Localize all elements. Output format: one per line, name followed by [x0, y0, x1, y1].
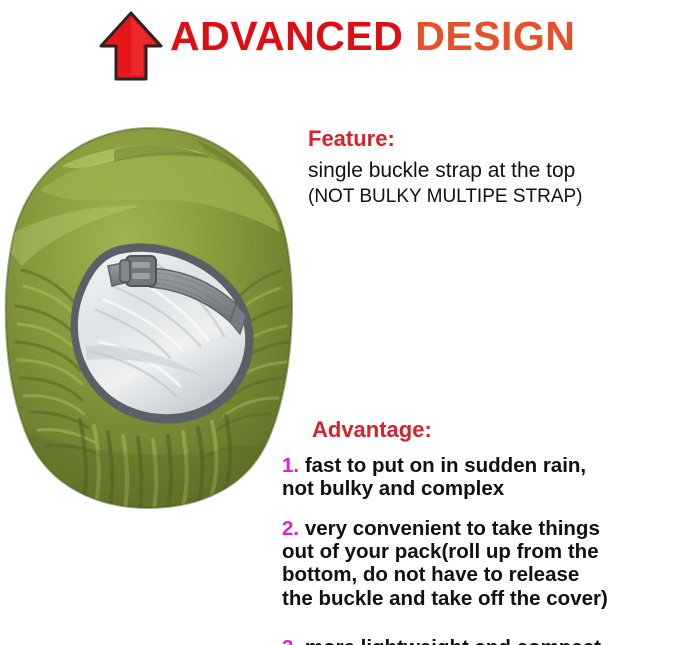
advantage-item-1: 1. fast to put on in sudden rain, not bu…	[282, 454, 677, 500]
advantage-heading: Advantage:	[312, 417, 677, 443]
product-infographic: ADVANCED DESIGN	[0, 0, 679, 645]
page-title: ADVANCED DESIGN	[170, 16, 575, 57]
up-arrow-icon	[98, 10, 164, 82]
advantage-item-2: 2. very convenient to take things out of…	[282, 517, 677, 610]
advantage-number-2: 2.	[282, 517, 299, 540]
page-title-part2: DESIGN	[415, 13, 575, 59]
banner-header: ADVANCED DESIGN	[0, 0, 679, 100]
feature-line-1: single buckle strap at the top	[308, 157, 677, 184]
feature-section: Feature: single buckle strap at the top …	[282, 126, 677, 209]
feature-body: single buckle strap at the top (NOT BULK…	[308, 157, 677, 209]
advantage-number-1: 1.	[282, 454, 299, 477]
advantage-number-3: 3.	[282, 636, 299, 645]
advantage-section: Advantage: 1. fast to put on in sudden r…	[282, 417, 677, 645]
info-text-column: Feature: single buckle strap at the top …	[282, 126, 677, 645]
advantage-item-3: 3. more lightweight and compact	[282, 636, 677, 645]
product-image	[0, 120, 300, 510]
advantage-text-2-line-1: very convenient to take things	[305, 517, 600, 540]
advantage-text-1-line-2: not bulky and complex	[282, 477, 504, 500]
advantage-text-1-line-1: fast to put on in sudden rain,	[305, 454, 586, 477]
page-title-part1: ADVANCED	[170, 13, 403, 59]
feature-heading: Feature:	[308, 126, 677, 152]
advantage-list: 1. fast to put on in sudden rain, not bu…	[282, 454, 677, 645]
advantage-text-2-line-2: out of your pack(roll up from the	[282, 540, 599, 563]
advantage-text-2-line-4: the buckle and take off the cover)	[282, 587, 608, 610]
advantage-text-2-line-3: bottom, do not have to release	[282, 563, 579, 586]
buckle	[120, 256, 156, 286]
advantage-text-3-line-1: more lightweight and compact	[305, 636, 601, 645]
feature-line-2: (NOT BULKY MULTIPE STRAP)	[308, 185, 677, 210]
